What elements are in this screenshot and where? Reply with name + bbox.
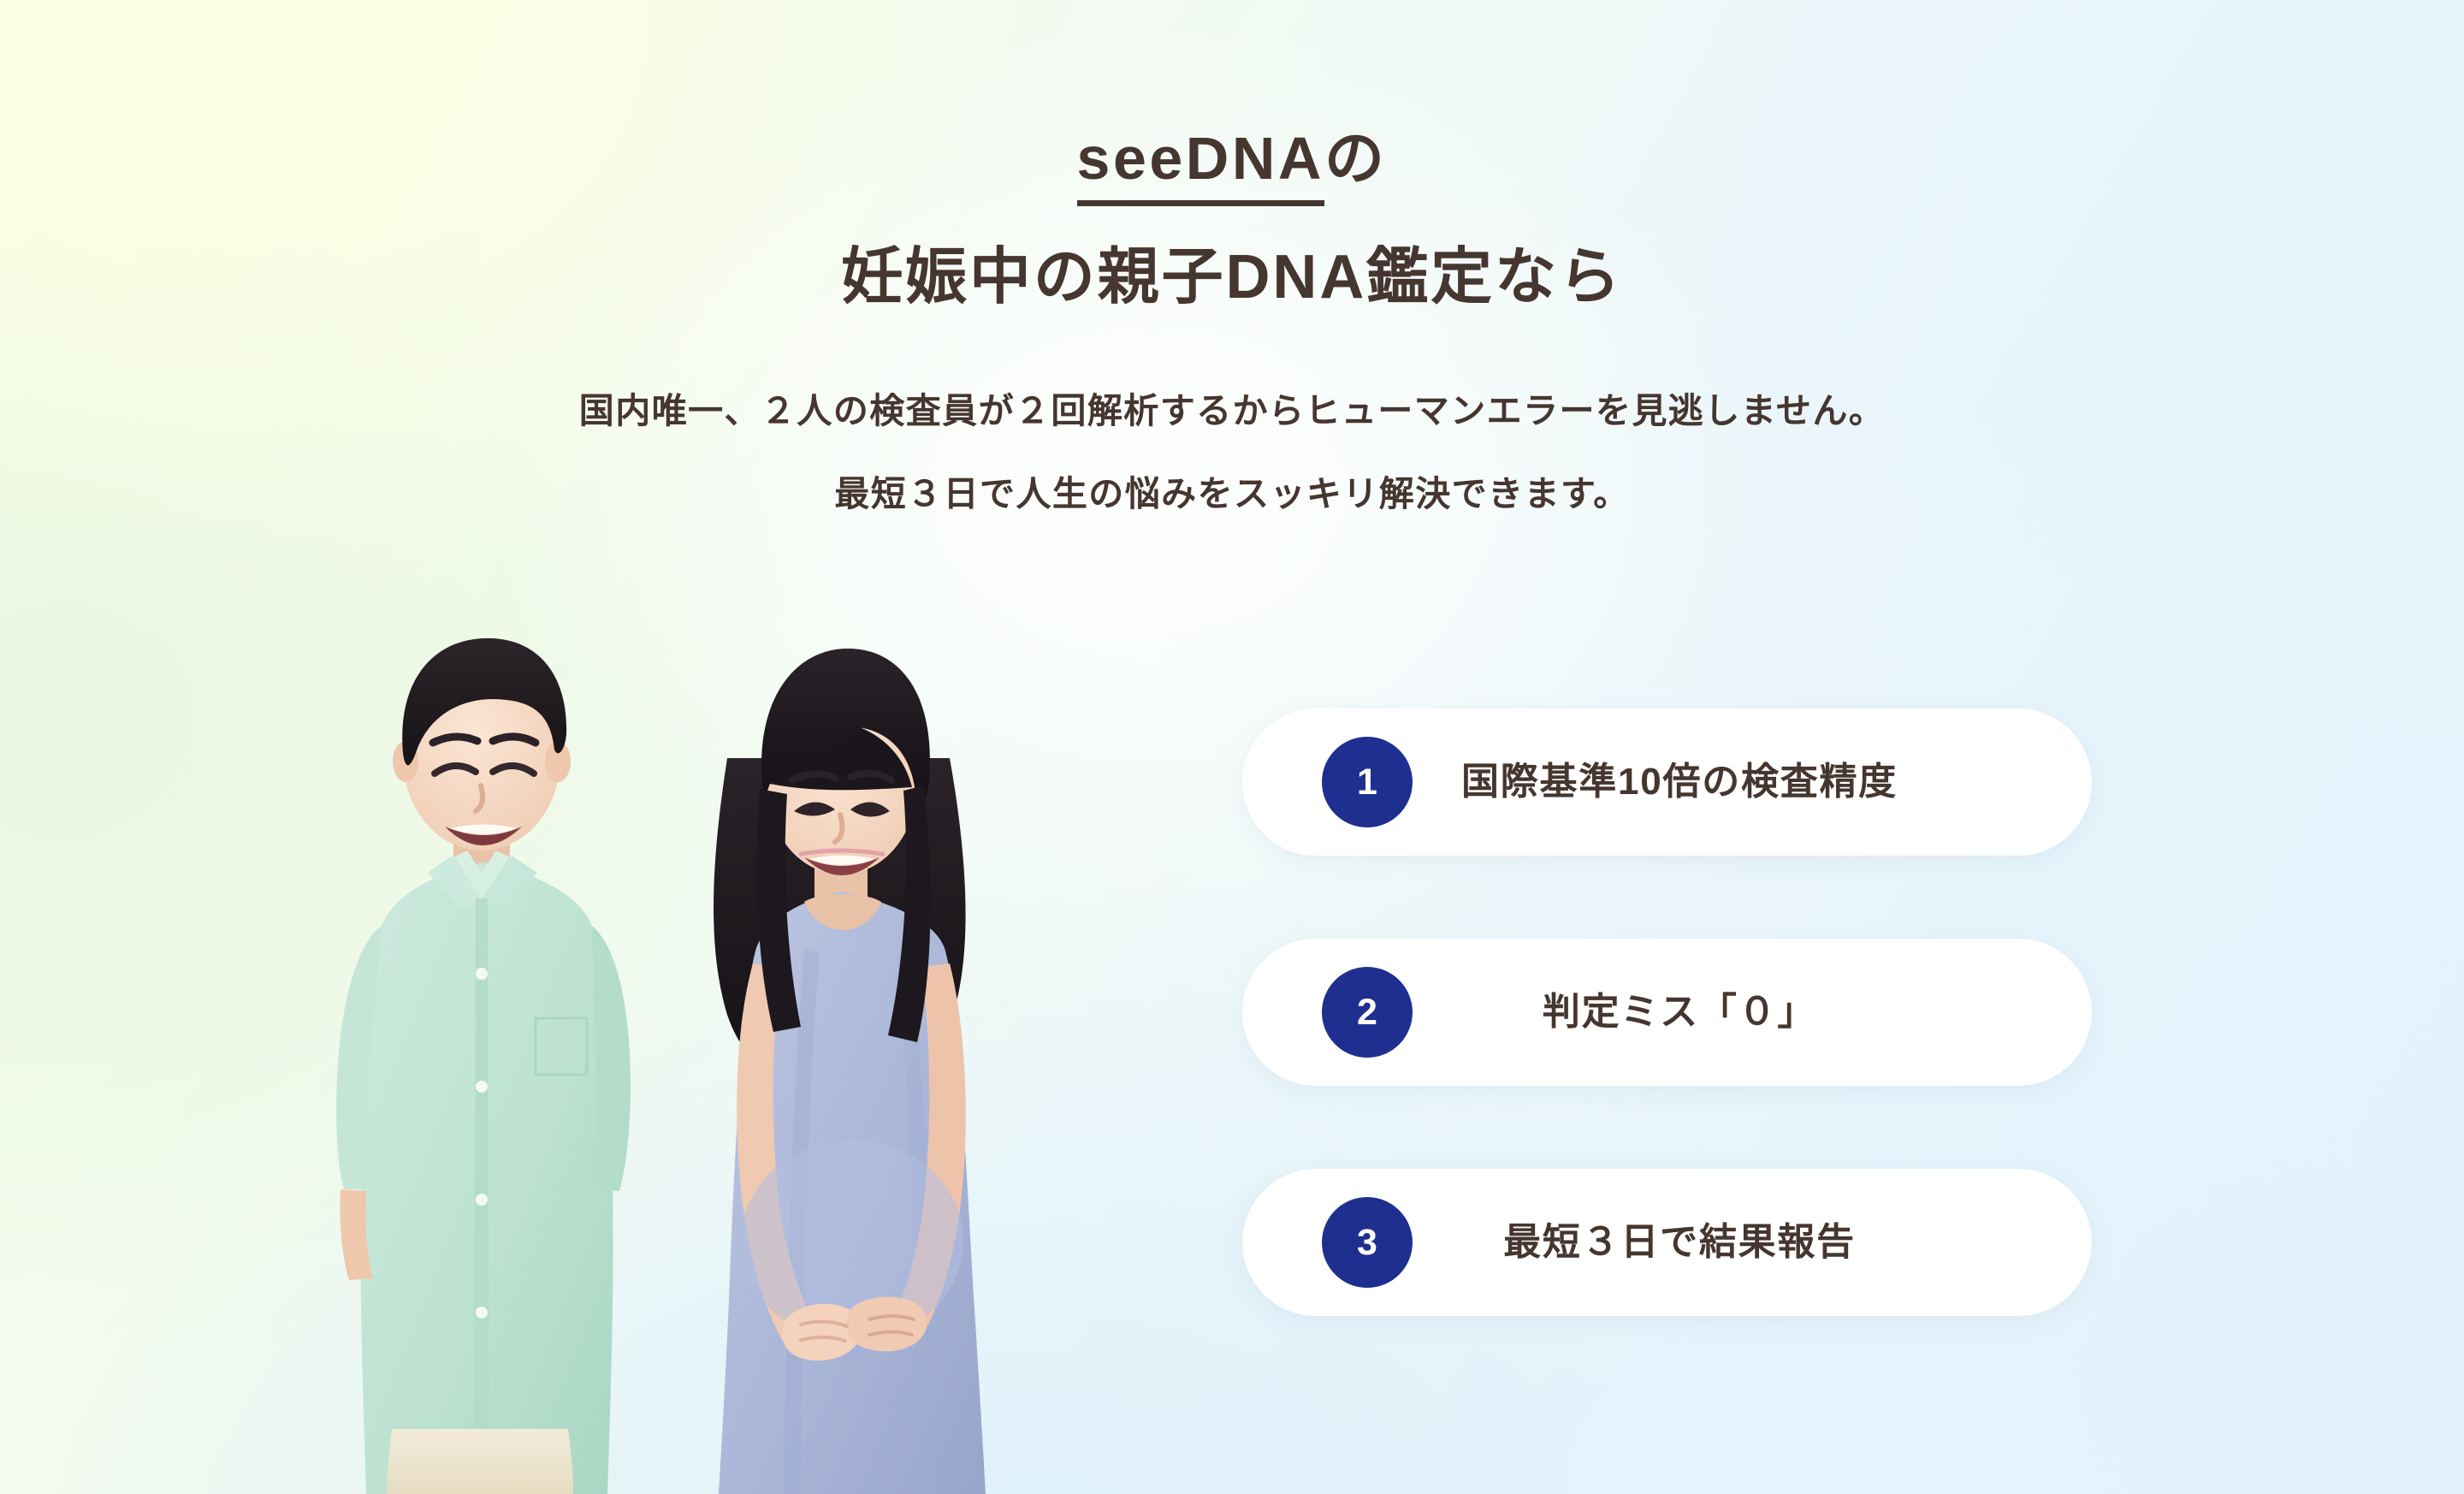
feature-card-3-label: 最短３日で結果報告 xyxy=(1413,1222,2092,1263)
headline-line-2: 妊娠中の親子DNA鑑定なら xyxy=(0,246,2464,308)
hero-section: seeDNAの 妊娠中の親子DNA鑑定なら 国内唯一、２人の検査員が２回解析する… xyxy=(0,0,2464,1494)
feature-card-1[interactable]: 1 国際基準10倍の検査精度 xyxy=(1242,708,2092,856)
subcopy-line-1: 国内唯一、２人の検査員が２回解析するからヒューマンエラーを見逃しません。 xyxy=(0,394,2464,429)
feature-card-3-number-badge: 3 xyxy=(1322,1197,1413,1288)
feature-card-1-number-badge: 1 xyxy=(1322,737,1413,827)
feature-card-2-label: 判定ミス「０」 xyxy=(1413,992,2092,1033)
feature-card-list: 1 国際基準10倍の検査精度 2 判定ミス「０」 3 最短３日で結果報告 xyxy=(1242,708,2092,1316)
couple-photo xyxy=(325,590,1129,1494)
headline-block: seeDNAの 妊娠中の親子DNA鑑定なら xyxy=(0,128,2464,308)
feature-card-1-label: 国際基準10倍の検査精度 xyxy=(1413,762,2092,803)
subcopy-block: 国内唯一、２人の検査員が２回解析するからヒューマンエラーを見逃しません。 最短３… xyxy=(0,394,2464,512)
feature-card-2-number-badge: 2 xyxy=(1322,967,1413,1058)
headline-line-1-suffix: の xyxy=(1324,125,1388,192)
couple-photo-illustration xyxy=(325,590,1129,1494)
headline-line-1: seeDNAの xyxy=(0,128,2464,188)
feature-card-2[interactable]: 2 判定ミス「０」 xyxy=(1242,939,2092,1086)
subcopy-line-2: 最短３日で人生の悩みをスッキリ解決できます。 xyxy=(0,477,2464,512)
feature-card-3[interactable]: 3 最短３日で結果報告 xyxy=(1242,1169,2092,1316)
brand-name: seeDNA xyxy=(1077,125,1324,206)
